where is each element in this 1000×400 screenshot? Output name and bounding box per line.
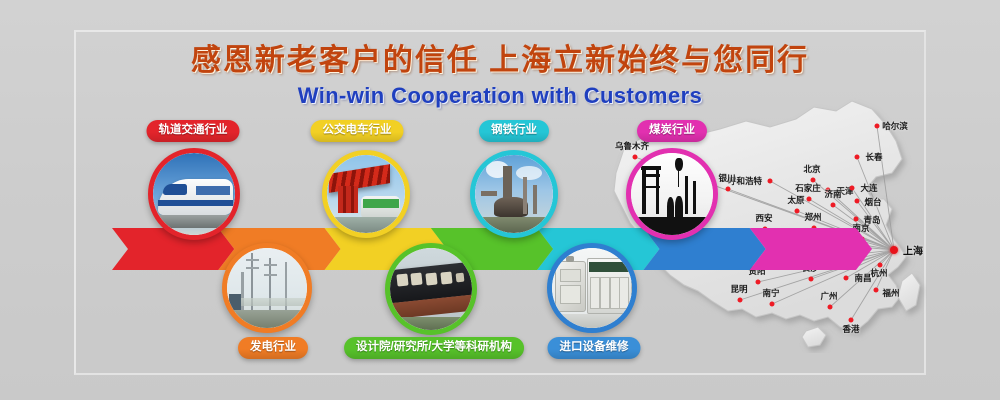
- city-dot: [874, 288, 879, 293]
- industry-circle-bottom-0[interactable]: [222, 243, 312, 333]
- city-dot: [770, 302, 775, 307]
- city-dot: [738, 298, 743, 303]
- industry-circle-bottom-1[interactable]: [385, 243, 477, 335]
- industry-circle-top-0[interactable]: [148, 148, 240, 240]
- city-label: 乌鲁木齐: [615, 140, 649, 152]
- city-dot: [875, 124, 880, 129]
- city-label: 南宁: [762, 287, 779, 299]
- city-dot: [850, 186, 855, 191]
- city-dot: [854, 217, 859, 222]
- city-label: 银川: [718, 172, 735, 184]
- industry-photo: [390, 248, 472, 330]
- city-dot: [890, 246, 898, 254]
- industry-label-top-0[interactable]: 轨道交通行业: [147, 120, 240, 142]
- city-label: 上海: [903, 243, 923, 258]
- city-label: 福州: [882, 287, 899, 299]
- city-label: 长春: [865, 151, 882, 163]
- city-label: 北京: [803, 163, 820, 175]
- industry-label-top-2[interactable]: 钢铁行业: [479, 120, 549, 142]
- city-dot: [756, 280, 761, 285]
- city-dot: [795, 209, 800, 214]
- industry-photo: [227, 248, 307, 328]
- city-label: 太原: [787, 194, 804, 206]
- headline-title-cn: 感恩新老客户的信任 上海立新始终与您同行: [0, 44, 1000, 79]
- city-label: 哈尔滨: [882, 120, 908, 132]
- city-label: 石家庄: [795, 182, 821, 194]
- ribbon-segment: [750, 228, 872, 270]
- city-label: 昆明: [730, 283, 747, 295]
- city-label: 香港: [842, 323, 859, 335]
- industry-photo: [327, 155, 405, 233]
- industry-circle-top-1[interactable]: [322, 150, 410, 238]
- industry-photo: [475, 155, 553, 233]
- city-dot: [849, 318, 854, 323]
- industry-label-bottom-2[interactable]: 进口设备维修: [548, 337, 641, 359]
- industry-label-top-1[interactable]: 公交电车行业: [311, 120, 404, 142]
- promo-banner: 感恩新老客户的信任 上海立新始终与您同行 Win-win Cooperation…: [0, 0, 1000, 400]
- city-dot: [844, 276, 849, 281]
- industry-circle-bottom-2[interactable]: [547, 243, 637, 333]
- city-dot: [809, 277, 814, 282]
- city-label: 杭州: [870, 267, 887, 279]
- city-dot: [768, 179, 773, 184]
- industry-photo: [552, 248, 632, 328]
- city-label: 烟台: [864, 196, 881, 208]
- industry-label-bottom-1[interactable]: 设计院/研究所/大学等科研机构: [344, 337, 524, 359]
- city-label: 郑州: [804, 211, 821, 223]
- industry-photo: [631, 153, 713, 235]
- city-label: 大连: [860, 182, 877, 194]
- city-dot: [726, 187, 731, 192]
- city-dot: [831, 203, 836, 208]
- industry-photo: [153, 153, 235, 235]
- city-dot: [828, 305, 833, 310]
- industry-label-top-3[interactable]: 煤炭行业: [637, 120, 707, 142]
- city-dot: [855, 155, 860, 160]
- city-dot: [807, 197, 812, 202]
- industry-circle-top-2[interactable]: [470, 150, 558, 238]
- city-dot: [855, 199, 860, 204]
- industry-circle-top-3[interactable]: [626, 148, 718, 240]
- industry-label-bottom-0[interactable]: 发电行业: [238, 337, 308, 359]
- city-label: 济南: [824, 188, 841, 200]
- city-label: 南昌: [854, 272, 871, 284]
- city-label: 西安: [755, 212, 772, 224]
- city-label: 广州: [820, 290, 837, 302]
